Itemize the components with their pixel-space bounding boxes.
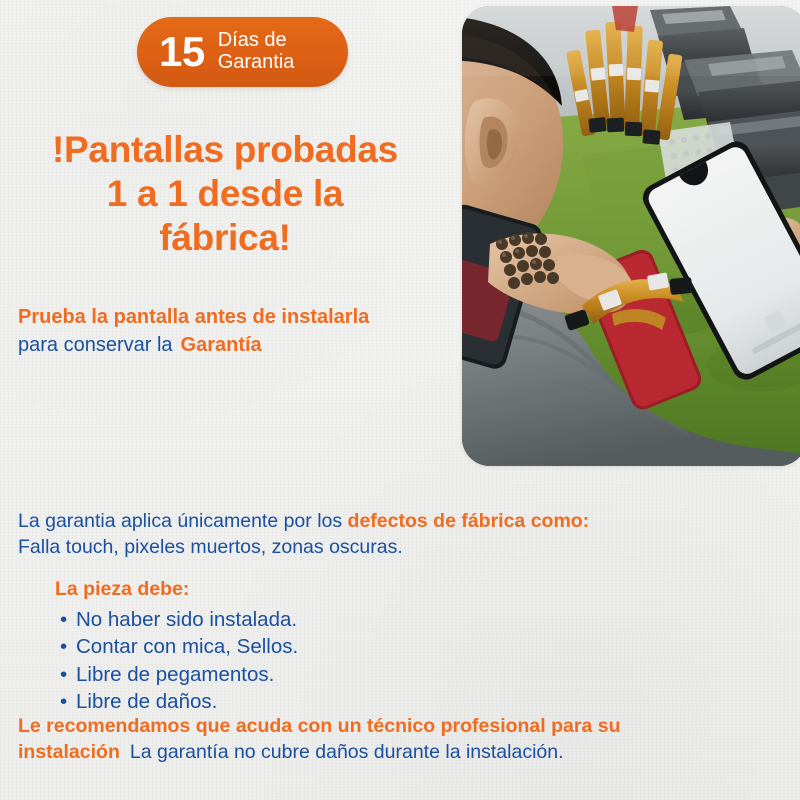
badge-days-number: 15 <box>159 31 205 73</box>
list-item: •No haber sido instalada. <box>60 606 298 633</box>
closing-line-2: instalaciónLa garantía no cubre daños du… <box>18 740 793 766</box>
list-item-label: Libre de daños. <box>76 690 217 713</box>
requirements-list: •No haber sido instalada. •Contar con mi… <box>60 606 298 715</box>
warranty-scope-line-2: Falla touch, pixeles muertos, zonas oscu… <box>18 534 788 560</box>
closing-line-2-text: La garantía no cubre daños durante la in… <box>130 741 564 763</box>
list-item: •Libre de pegamentos. <box>60 661 298 688</box>
list-item: •Contar con mica, Sellos. <box>60 633 298 660</box>
badge-label-line-2: Garantia <box>218 52 295 74</box>
bullet-icon: • <box>60 688 76 715</box>
bullet-icon: • <box>60 633 76 660</box>
warranty-scope-emphasis: defectos de fábrica como: <box>348 510 590 532</box>
bullet-icon: • <box>60 606 76 633</box>
bullet-icon: • <box>60 661 76 688</box>
headline-line-2: 1 a 1 desde la <box>0 172 450 216</box>
subheadline-line-2: para conservar laGarantía <box>18 333 458 359</box>
subheadline-line-2-text: para conservar la <box>18 334 173 356</box>
page-title: !Pantallas probadas 1 a 1 desde la fábri… <box>0 128 450 260</box>
photo-illustration <box>462 6 800 466</box>
requirements-heading: La pieza debe: <box>55 578 189 601</box>
warranty-scope-line-1-text: La garantia aplica únicamente por los <box>18 510 342 532</box>
list-item-label: Libre de pegamentos. <box>76 663 274 686</box>
headline-line-3: fábrica! <box>0 216 450 260</box>
subheadline-line-1: Prueba la pantalla antes de instalarla <box>18 305 458 331</box>
closing-recommendation: Le recomendamos que acuda con un técnico… <box>18 714 793 765</box>
closing-emphasis: instalación <box>18 741 120 763</box>
list-item: •Libre de daños. <box>60 688 298 715</box>
warranty-days-badge: 15 Días de Garantia <box>137 17 348 87</box>
headline-line-1: !Pantallas probadas <box>0 128 450 172</box>
technician-testing-screens-photo <box>462 6 800 466</box>
badge-days-label: Días de Garantia <box>218 30 295 73</box>
subheadline-emphasis: Garantía <box>181 334 262 356</box>
warranty-poster: 15 Días de Garantia !Pantallas probadas … <box>0 0 800 800</box>
warranty-scope-text: La garantia aplica únicamente por los de… <box>18 508 788 561</box>
list-item-label: No haber sido instalada. <box>76 608 297 631</box>
subheadline: Prueba la pantalla antes de instalarla p… <box>18 305 458 358</box>
warranty-scope-line-1: La garantia aplica únicamente por los de… <box>18 508 788 534</box>
list-item-label: Contar con mica, Sellos. <box>76 635 298 658</box>
closing-line-1: Le recomendamos que acuda con un técnico… <box>18 714 793 740</box>
badge-label-line-1: Días de <box>218 30 295 52</box>
